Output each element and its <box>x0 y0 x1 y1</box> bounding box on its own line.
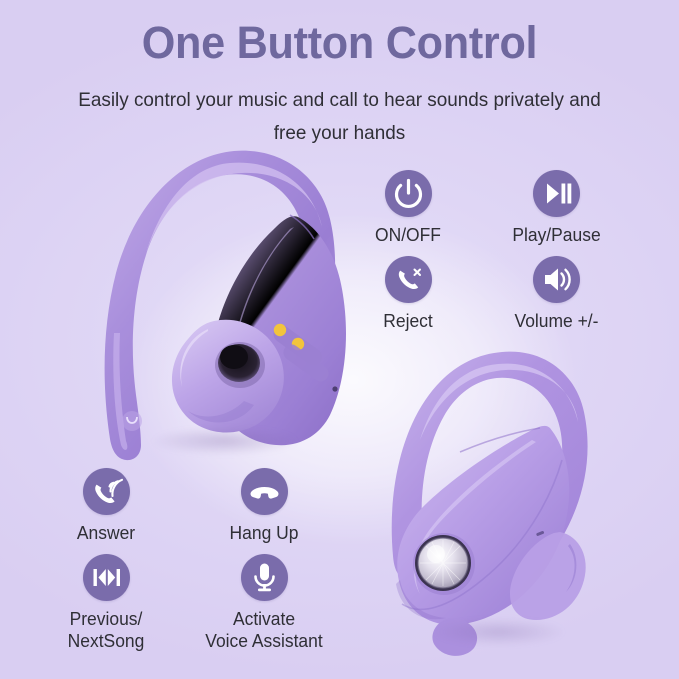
earbud-outer-view <box>364 336 664 666</box>
feature-label: Reject <box>335 310 481 332</box>
feature-hangup[interactable]: Hang Up <box>189 468 339 544</box>
multifunction-button[interactable] <box>413 533 475 595</box>
feature-answer[interactable]: Answer <box>31 468 181 544</box>
infographic-page: One Button Control Easily control your m… <box>0 0 679 679</box>
feature-label: Activate Voice Assistant <box>177 608 352 652</box>
earbud-shadow <box>404 612 594 652</box>
power-icon <box>385 170 432 217</box>
feature-label: Play/Pause <box>482 224 630 246</box>
feature-label: Answer <box>33 522 179 544</box>
feature-label: Hang Up <box>191 522 337 544</box>
feature-onoff[interactable]: ON/OFF <box>333 170 483 246</box>
earbud-shadow <box>120 421 330 461</box>
call-answer-icon <box>83 468 130 515</box>
call-reject-icon <box>385 256 432 303</box>
feature-previous-next[interactable]: Previous/ NextSong <box>31 554 181 652</box>
feature-reject[interactable]: Reject <box>333 256 483 332</box>
call-hangup-icon <box>241 468 288 515</box>
feature-voice-assistant[interactable]: Activate Voice Assistant <box>174 554 354 652</box>
feature-label: ON/OFF <box>335 224 481 246</box>
feature-play-pause[interactable]: Play/Pause <box>480 170 633 246</box>
page-title: One Button Control <box>14 17 666 69</box>
play-pause-icon <box>533 170 580 217</box>
speaker-volume-icon <box>533 256 580 303</box>
microphone-icon <box>241 554 288 601</box>
feature-label: Previous/ NextSong <box>33 608 179 652</box>
previous-next-icon <box>83 554 130 601</box>
feature-volume[interactable]: Volume +/- <box>480 256 633 332</box>
feature-label: Volume +/- <box>482 310 630 332</box>
